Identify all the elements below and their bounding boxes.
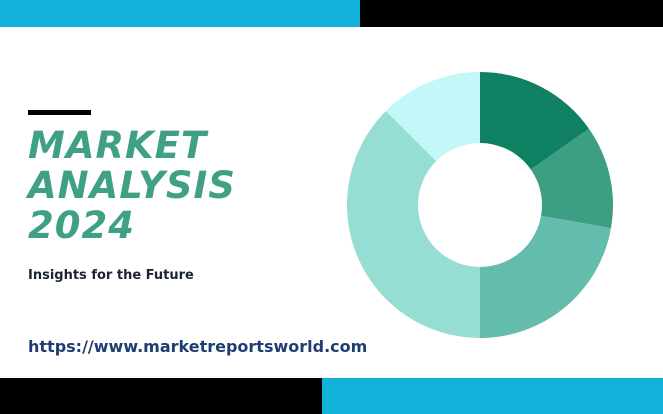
top-bar-black-segment bbox=[360, 0, 663, 27]
donut-chart bbox=[347, 72, 613, 338]
title-rule bbox=[28, 110, 91, 115]
bottom-bar-cyan-segment bbox=[322, 378, 663, 414]
page-subtitle: Insights for the Future bbox=[28, 268, 348, 283]
website-url-link[interactable]: https://www.marketreportsworld.com bbox=[28, 337, 367, 356]
top-accent-bar bbox=[0, 0, 663, 27]
bottom-bar-black-segment bbox=[0, 378, 322, 414]
page-title: MARKET ANALYSIS 2024 bbox=[28, 126, 348, 246]
bottom-accent-bar bbox=[0, 378, 663, 414]
donut-chart-svg bbox=[347, 72, 613, 338]
top-bar-cyan-segment bbox=[0, 0, 360, 27]
poster-canvas: MARKET ANALYSIS 2024 Insights for the Fu… bbox=[0, 0, 663, 414]
donut-center-hole bbox=[418, 143, 542, 267]
headline-block: MARKET ANALYSIS 2024 Insights for the Fu… bbox=[28, 110, 348, 283]
